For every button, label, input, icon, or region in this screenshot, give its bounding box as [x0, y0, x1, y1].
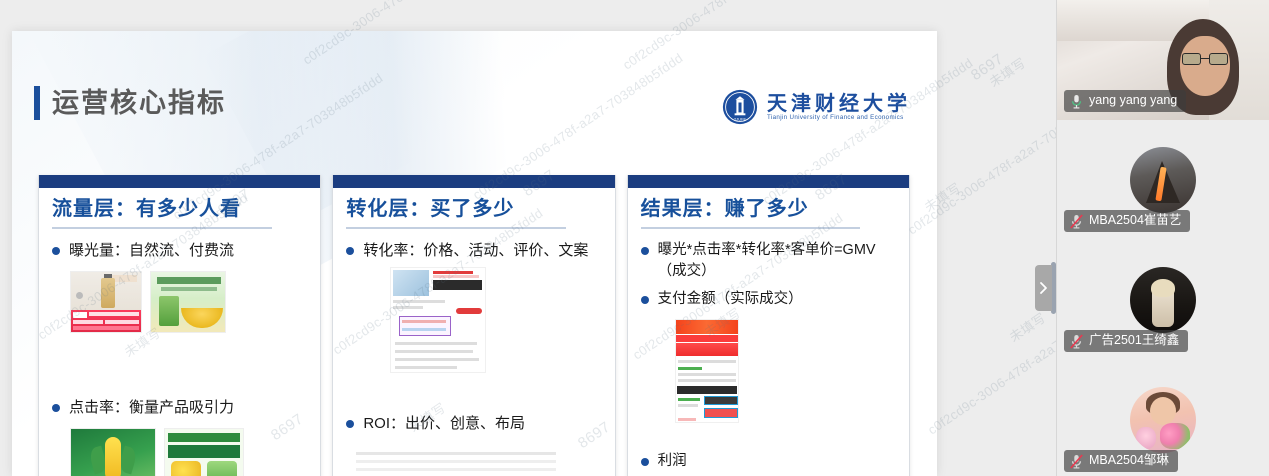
participant-name: MBA2504崔苗艺	[1089, 213, 1181, 229]
card-divider	[52, 227, 272, 229]
bullet-text: 点击率：衡量产品吸引力	[69, 397, 234, 419]
bullet-dot-icon	[346, 247, 354, 255]
microphone-icon	[1070, 94, 1083, 109]
page-title: 运营核心指标	[34, 86, 226, 120]
logo-name-en: Tianjin University of Finance and Econom…	[767, 115, 911, 121]
card-body: 流量层：有多少人看 曝光量：自然流、付费流	[39, 188, 320, 476]
card-top-bar	[628, 175, 909, 188]
bullet-dot-icon	[52, 247, 60, 255]
watermark-label: 未填写	[985, 53, 1029, 91]
participant-name: 广告2501王绮鑫	[1089, 333, 1179, 349]
participant-tile[interactable]: MBA2504崔苗艺	[1056, 120, 1269, 240]
participant-name-badge: 广告2501王绮鑫	[1064, 330, 1188, 352]
card-thumbnails	[70, 428, 307, 476]
bullet-dot-icon	[641, 247, 649, 255]
bullet-item: 点击率：衡量产品吸引力	[52, 397, 307, 419]
participant-name: MBA2504邹琳	[1089, 453, 1169, 469]
thumbnail-cosmetics-listing	[70, 271, 142, 333]
participant-name-badge: yang yang yang	[1064, 90, 1186, 112]
card-title: 流量层：有多少人看	[52, 198, 307, 220]
bullet-item: 利润	[641, 451, 896, 472]
logo-name-cn: 天津财经大学	[767, 93, 911, 113]
card-result-layer: 结果层：赚了多少 曝光*点击率*转化率*客单价=GMV（成交） 支付金额（实际成…	[627, 175, 910, 476]
participant-tile[interactable]: MBA2504邹琳	[1056, 360, 1269, 476]
collapse-panel-button[interactable]	[1035, 265, 1052, 311]
microphone-muted-icon	[1070, 454, 1083, 469]
card-title: 结果层：赚了多少	[641, 198, 896, 220]
bullet-text: ROI：出价、创意、布局	[363, 413, 525, 435]
card-divider	[641, 227, 861, 229]
bullet-dot-icon	[641, 458, 649, 466]
watermark-label: 未填写	[1005, 308, 1049, 346]
participant-tile[interactable]: yang yang yang	[1056, 0, 1269, 120]
thumbnail-corn-poster-b	[164, 428, 244, 476]
thumbnail-corn-drink-ad	[150, 271, 226, 333]
bullet-item: 曝光量：自然流、付费流	[52, 240, 307, 262]
rail-divider	[1056, 0, 1057, 476]
meeting-screen-share-view: 运营核心指标 TJUFE 天津财经大学 Tianjin University o…	[0, 0, 1269, 476]
bullet-item: 转化率：价格、活动、评价、文案	[346, 240, 601, 262]
chevron-right-icon	[1039, 281, 1048, 295]
bullet-text: 曝光*点击率*转化率*客单价=GMV（成交）	[658, 240, 896, 282]
bullet-item: ROI：出价、创意、布局	[346, 413, 601, 435]
bullet-dot-icon	[641, 296, 649, 304]
svg-text:TJUFE: TJUFE	[734, 117, 747, 122]
card-body: 转化层：买了多少 转化率：价格、活动、评价、文案	[333, 188, 614, 476]
card-thumbnails	[70, 271, 307, 333]
card-conversion-layer: 转化层：买了多少 转化率：价格、活动、评价、文案	[332, 175, 615, 476]
card-body: 结果层：赚了多少 曝光*点击率*转化率*客单价=GMV（成交） 支付金额（实际成…	[628, 188, 909, 476]
participant-tile[interactable]: 广告2501王绮鑫	[1056, 240, 1269, 360]
watermark-suffix: 8697	[968, 50, 1007, 84]
presentation-slide: 运营核心指标 TJUFE 天津财经大学 Tianjin University o…	[12, 31, 937, 476]
card-title: 转化层：买了多少	[346, 198, 601, 220]
participant-name-badge: MBA2504邹琳	[1064, 450, 1178, 472]
university-logo: TJUFE 天津财经大学 Tianjin University of Finan…	[722, 89, 911, 125]
shared-screen-stage: 运营核心指标 TJUFE 天津财经大学 Tianjin University o…	[0, 0, 1056, 476]
bullet-text: 支付金额（实际成交）	[658, 289, 803, 310]
bullet-item: 支付金额（实际成交）	[641, 289, 896, 310]
bullet-text: 利润	[658, 451, 687, 472]
metric-cards-row: 流量层：有多少人看 曝光量：自然流、付费流	[38, 175, 910, 476]
bullet-dot-icon	[52, 404, 60, 412]
card-traffic-layer: 流量层：有多少人看 曝光量：自然流、付费流	[38, 175, 321, 476]
thumbnail-corn-poster-a	[70, 428, 156, 476]
thumbnail-order-page	[675, 319, 739, 423]
microphone-muted-icon	[1070, 214, 1083, 229]
card-top-bar	[333, 175, 614, 188]
participant-name-badge: MBA2504崔苗艺	[1064, 210, 1190, 232]
thumbnail-product-detail-page	[390, 267, 486, 373]
participant-name: yang yang yang	[1089, 93, 1177, 109]
participant-rail[interactable]: yang yang yang MBA2504崔苗艺	[1056, 0, 1269, 476]
bullet-text: 曝光量：自然流、付费流	[69, 240, 234, 262]
bullet-dot-icon	[346, 420, 354, 428]
logo-text-block: 天津财经大学 Tianjin University of Finance and…	[767, 93, 911, 121]
microphone-muted-icon	[1070, 334, 1083, 349]
thumbnail-data-table	[352, 448, 562, 476]
card-divider	[346, 227, 566, 229]
university-seal-icon: TJUFE	[722, 89, 758, 125]
slide-title-text: 运营核心指标	[52, 90, 226, 117]
bullet-item: 曝光*点击率*转化率*客单价=GMV（成交）	[641, 240, 896, 282]
bullet-text: 转化率：价格、活动、评价、文案	[363, 240, 588, 262]
title-accent-bar	[34, 86, 40, 120]
card-top-bar	[39, 175, 320, 188]
